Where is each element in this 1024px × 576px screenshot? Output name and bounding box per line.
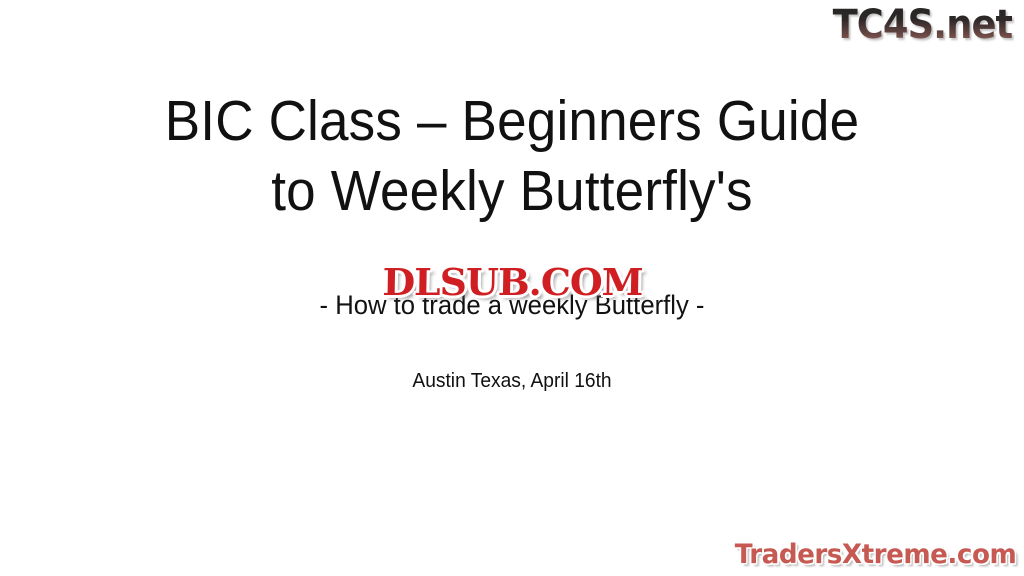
subtitle-text: - How to trade a weekly Butterfly - xyxy=(26,288,999,322)
tradersxtreme-logo: TradersXtreme.com xyxy=(734,538,1016,572)
tc4s-logo: TC4S.net xyxy=(832,2,1012,48)
presentation-slide: TC4S.net BIC Class – Beginners Guide to … xyxy=(0,0,1024,576)
page-title: BIC Class – Beginners Guide to Weekly Bu… xyxy=(0,86,1024,226)
title-line-2: to Weekly Butterfly's xyxy=(36,156,988,226)
event-details: Austin Texas, April 16th xyxy=(0,368,1024,394)
title-line-1: BIC Class – Beginners Guide xyxy=(36,86,988,156)
event-location-date: Austin Texas, April 16th xyxy=(20,368,1003,394)
subtitle: - How to trade a weekly Butterfly - xyxy=(0,288,1024,326)
